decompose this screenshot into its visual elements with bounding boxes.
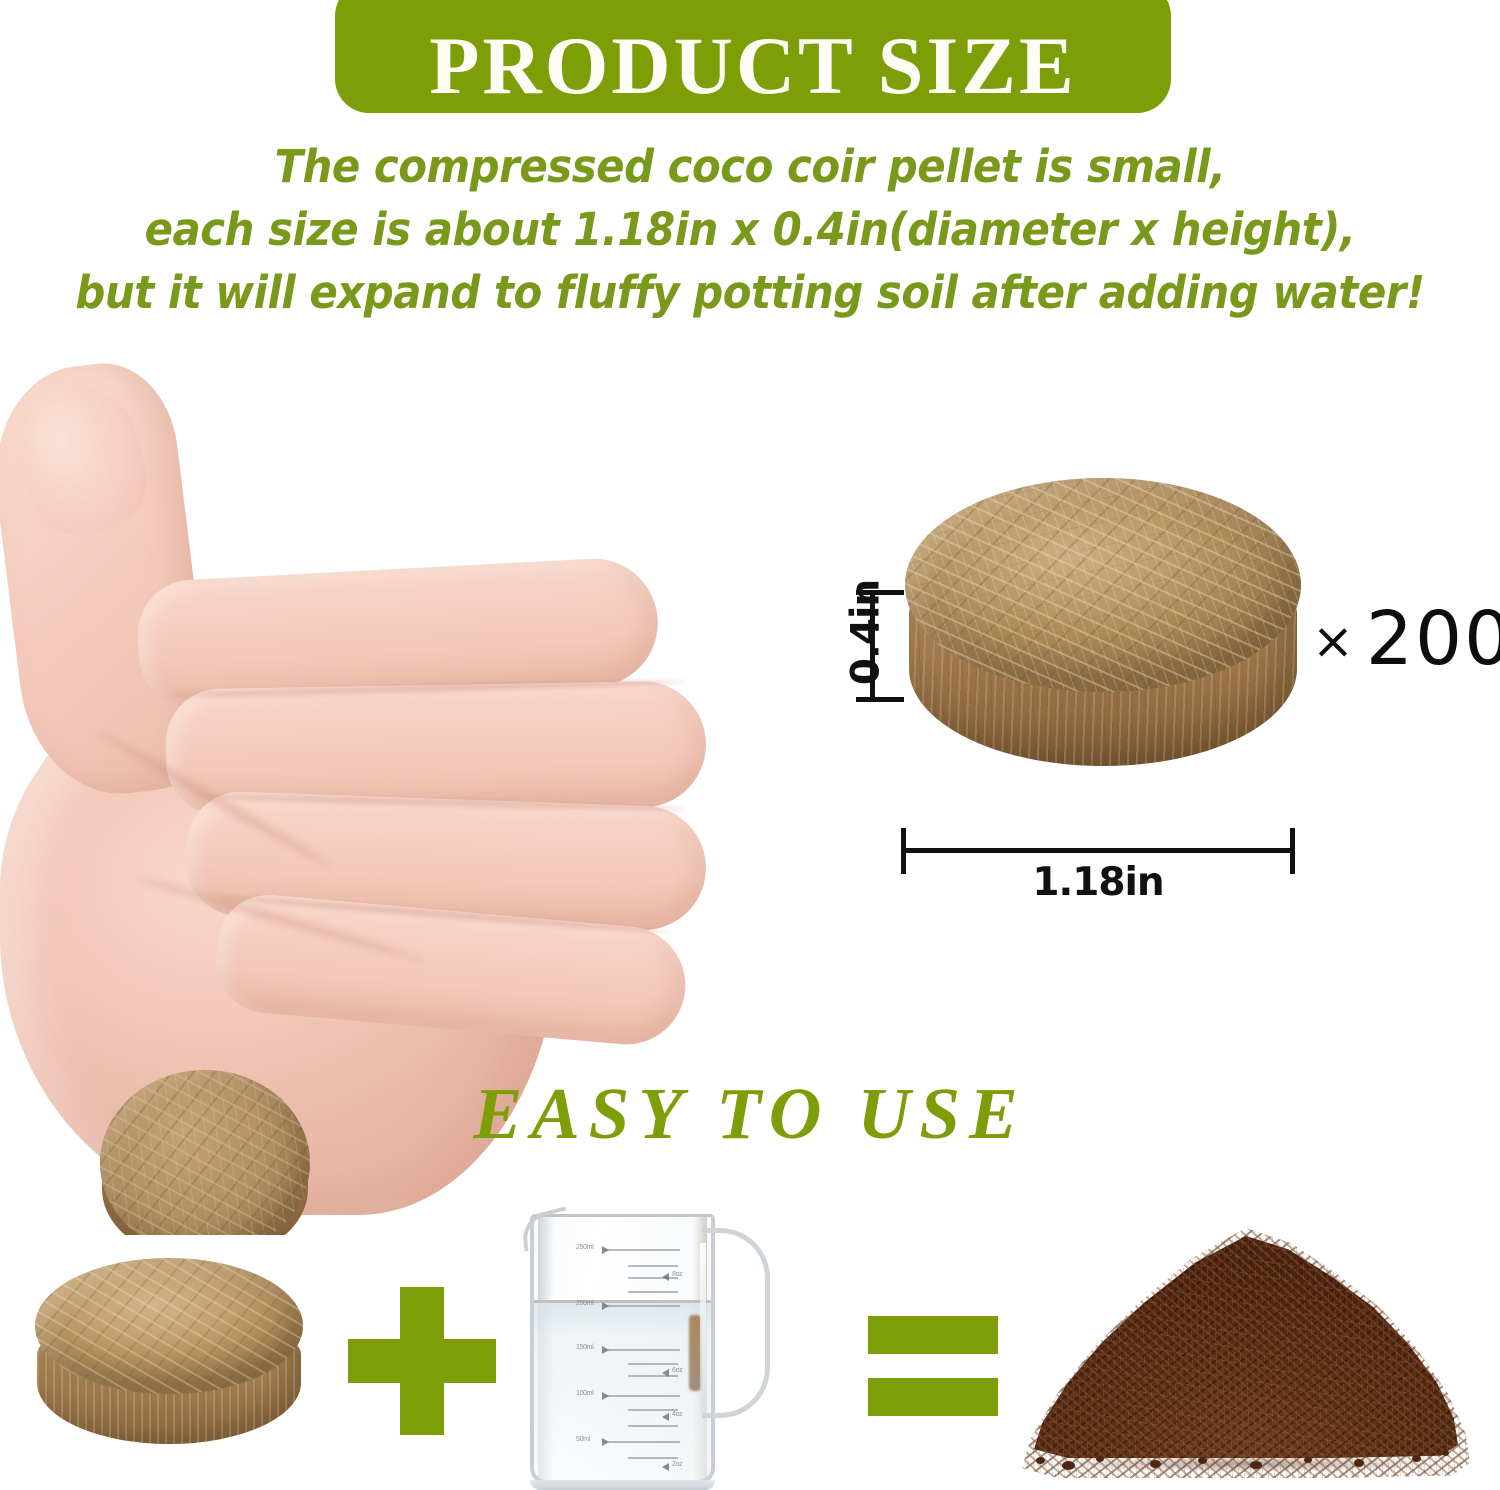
equals-icon	[868, 1316, 998, 1420]
graduation-mark	[628, 1375, 678, 1377]
beaker-graduations: 250ml 8oz 200ml 150ml 6oz 100ml 4oz	[534, 1217, 711, 1480]
description-line-1: The compressed coco coir pellet is small…	[53, 135, 1448, 198]
product-size-header-badge: PRODUCT SIZE	[335, 0, 1171, 113]
soil-crumb	[1250, 1461, 1262, 1469]
soil-crumb	[1198, 1457, 1207, 1464]
potting-soil-pile-step	[1022, 1228, 1470, 1478]
quantity-label: ×200	[1312, 596, 1500, 682]
graduation-mark	[606, 1349, 680, 1351]
description-line-2: each size is about 1.18in x 0.4in(diamet…	[53, 198, 1448, 261]
soil-crumb	[1354, 1459, 1364, 1467]
diameter-dimension-label: 1.18in	[898, 860, 1298, 905]
coir-fiber-texture	[35, 1258, 303, 1394]
height-dimension-marker: 0.4in	[846, 588, 896, 706]
pellet-top-face	[905, 478, 1301, 692]
graduation-mark	[628, 1425, 678, 1427]
graduation-label: 6oz	[672, 1367, 682, 1374]
soil-texture	[1022, 1228, 1470, 1478]
soil-crumb	[1096, 1456, 1104, 1462]
soil-crumb	[1442, 1450, 1449, 1456]
graduation-label: 100ml	[576, 1390, 594, 1397]
plus-icon	[348, 1287, 496, 1435]
graduation-label: 4oz	[672, 1411, 682, 1418]
product-description: The compressed coco coir pellet is small…	[53, 135, 1448, 324]
graduation-mark	[606, 1305, 680, 1307]
graduation-mark	[628, 1291, 678, 1293]
graduation-mark	[606, 1395, 680, 1397]
graduation-arrow-icon	[602, 1302, 609, 1310]
dimension-line-horizontal	[902, 848, 1294, 853]
graduation-mark	[628, 1277, 678, 1279]
graduation-arrow-icon	[602, 1346, 609, 1354]
soil-crumb	[1150, 1460, 1161, 1468]
graduation-label: 200ml	[576, 1300, 594, 1307]
beaker-handle	[702, 1228, 770, 1418]
coco-coir-pellet-dimensioned	[905, 478, 1301, 798]
graduation-mark	[628, 1457, 678, 1459]
graduation-arrow-icon	[602, 1438, 609, 1446]
graduation-label: 2oz	[672, 1461, 682, 1468]
graduation-arrow-icon	[602, 1392, 609, 1400]
easy-to-use-title: EASY TO USE	[0, 1072, 1500, 1156]
quantity-value: 200	[1366, 596, 1500, 682]
multiply-icon: ×	[1312, 612, 1356, 670]
graduation-mark	[628, 1265, 678, 1267]
graduation-arrow-icon	[602, 1246, 609, 1254]
graduation-arrow-icon	[662, 1369, 669, 1377]
soil-crumb	[1036, 1457, 1045, 1464]
description-line-3: but it will expand to fluffy potting soi…	[53, 261, 1448, 324]
plus-vertical-bar	[400, 1287, 444, 1435]
equals-top-bar	[868, 1316, 998, 1354]
graduation-mark	[606, 1441, 680, 1443]
graduation-arrow-icon	[662, 1413, 669, 1421]
beaker-glass-body: 250ml 8oz 200ml 150ml 6oz 100ml 4oz	[530, 1214, 715, 1484]
graduation-arrow-icon	[662, 1273, 669, 1281]
graduation-label: 250ml	[576, 1244, 594, 1251]
thumbnail-shape	[2, 370, 161, 549]
page-title: PRODUCT SIZE	[429, 25, 1076, 107]
graduation-label: 8oz	[672, 1271, 682, 1278]
graduation-mark	[606, 1249, 680, 1251]
graduation-label: 150ml	[576, 1344, 594, 1351]
coir-fiber-texture	[905, 478, 1301, 692]
soil-crumb	[1412, 1455, 1421, 1462]
soil-crumb	[1304, 1457, 1312, 1463]
soil-crumb	[1062, 1461, 1075, 1470]
diameter-dimension-marker: 1.18in	[898, 818, 1298, 898]
height-dimension-label: 0.4in	[844, 553, 889, 713]
graduation-mark	[628, 1409, 678, 1411]
coco-coir-pellet-step	[35, 1258, 303, 1458]
graduation-label: 50ml	[576, 1436, 590, 1443]
equals-bottom-bar	[868, 1378, 998, 1416]
graduation-arrow-icon	[662, 1463, 669, 1471]
measuring-beaker-step: 250ml 8oz 200ml 150ml 6oz 100ml 4oz	[522, 1200, 752, 1490]
pellet-top-face	[35, 1258, 303, 1394]
graduation-mark	[628, 1363, 678, 1365]
beaker-base	[530, 1480, 715, 1490]
